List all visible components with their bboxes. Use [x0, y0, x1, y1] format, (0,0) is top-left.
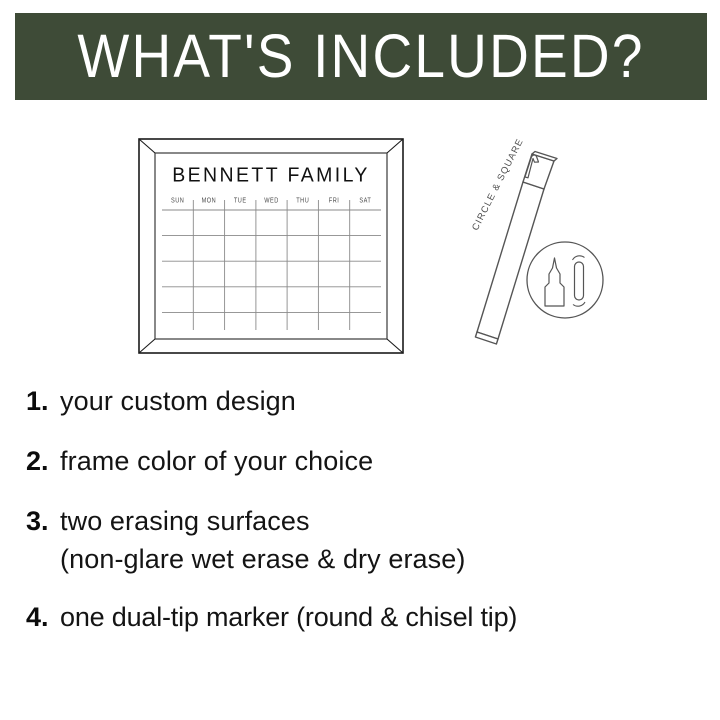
marker-illustration: CIRCLE & SQUARE [468, 150, 608, 355]
list-item-number: 1. [26, 382, 60, 420]
day-name-fri: FRI [318, 197, 349, 205]
list-item-number: 2. [26, 442, 60, 480]
list-item: 1. your custom design [0, 382, 720, 420]
list-item-text: your custom design [60, 382, 296, 420]
list-item-text-line2: (non-glare wet erase & dry erase) [60, 540, 465, 578]
list-item-text: one dual-tip marker (round & chisel tip) [60, 598, 517, 636]
list-item-number: 4. [26, 598, 60, 636]
marker-detail-circle [527, 242, 603, 318]
list-item-text: frame color of your choice [60, 442, 373, 480]
day-name-sat: SAT [350, 197, 381, 205]
header-banner: WHAT'S INCLUDED? [15, 13, 707, 100]
whiteboard-calendar-illustration: BENNETT FAMILY SUN MON TUE WED THU FRI S… [138, 138, 404, 354]
day-name-wed: WED [256, 197, 287, 205]
list-item: 4. one dual-tip marker (round & chisel t… [0, 598, 720, 636]
list-item: 3. two erasing surfaces (non-glare wet e… [0, 502, 720, 578]
list-item: 2. frame color of your choice [0, 442, 720, 480]
day-name-mon: MON [193, 197, 224, 205]
round-tip-icon [575, 262, 584, 300]
whiteboard-board-title: BENNETT FAMILY [160, 163, 382, 187]
day-name-thu: THU [287, 197, 318, 205]
page-title: WHAT'S INCLUDED? [77, 26, 644, 88]
illustration-band: BENNETT FAMILY SUN MON TUE WED THU FRI S… [0, 110, 720, 375]
marker-svg [468, 150, 608, 355]
day-name-tue: TUE [225, 197, 256, 205]
included-items-list: 1. your custom design 2. frame color of … [0, 382, 720, 658]
whiteboard-day-header-row: SUN MON TUE WED THU FRI SAT [162, 198, 381, 204]
list-item-text-block: two erasing surfaces (non-glare wet eras… [60, 502, 465, 578]
list-item-text-line1: two erasing surfaces [60, 506, 310, 536]
day-name-sun: SUN [162, 197, 193, 205]
list-item-number: 3. [26, 502, 60, 540]
